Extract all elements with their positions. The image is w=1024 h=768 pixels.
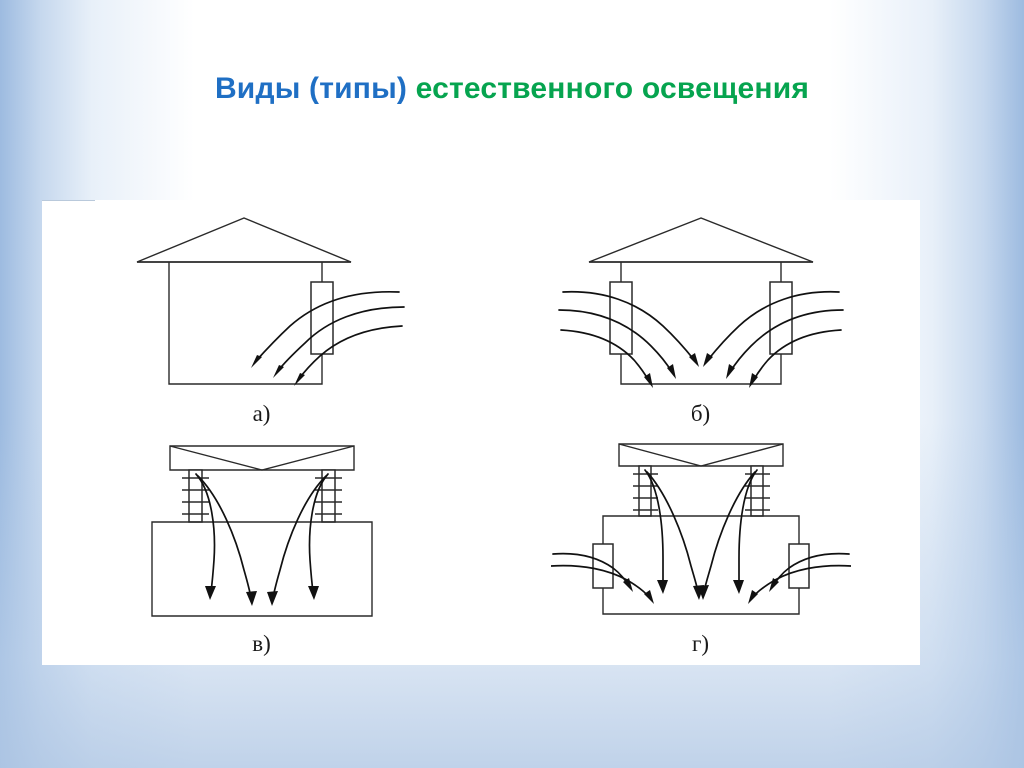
figure-a-diagram: [112, 204, 412, 400]
title-segment-blue: Виды (типы): [215, 72, 407, 105]
figure-v-caption: в): [252, 632, 271, 655]
figure-b-diagram: [551, 204, 851, 400]
figure-g: г): [481, 434, 920, 664]
room-outline-b: [621, 262, 781, 384]
roof-lantern-g: [619, 444, 783, 466]
room-outline-g: [603, 516, 799, 614]
light-rays-right-v: [267, 474, 328, 606]
figure-g-caption: г): [692, 632, 709, 655]
figure-v: в): [42, 434, 481, 664]
figure-b: б): [481, 204, 920, 434]
slide-canvas: Виды (типы) естественного освещения: [0, 0, 1024, 768]
roof-pitched-a: [137, 218, 351, 262]
title-segment-green: естественного освещения: [407, 72, 809, 105]
light-rays-skylight-left-g: [645, 470, 704, 600]
light-rays-left-v: [196, 474, 257, 606]
room-outline-a: [169, 262, 322, 384]
figure-b-caption: б): [691, 402, 710, 425]
window-right-a: [311, 282, 333, 354]
room-outline-v: [152, 522, 372, 616]
roof-pitched-b: [589, 218, 813, 262]
roof-lantern-v: [170, 446, 354, 470]
figure-grid: а): [42, 204, 920, 664]
figure-g-diagram: [551, 434, 851, 630]
panel-top-rule: [42, 200, 95, 201]
skylight-right-g: [745, 466, 770, 516]
page-title: Виды (типы) естественного освещения: [0, 72, 1024, 105]
light-rays-skylight-right-g: [698, 470, 757, 600]
figure-v-diagram: [112, 434, 412, 630]
skylight-left-v: [182, 470, 209, 522]
figure-a-caption: а): [253, 402, 271, 425]
skylight-right-v: [315, 470, 342, 522]
figure-a: а): [42, 204, 481, 434]
